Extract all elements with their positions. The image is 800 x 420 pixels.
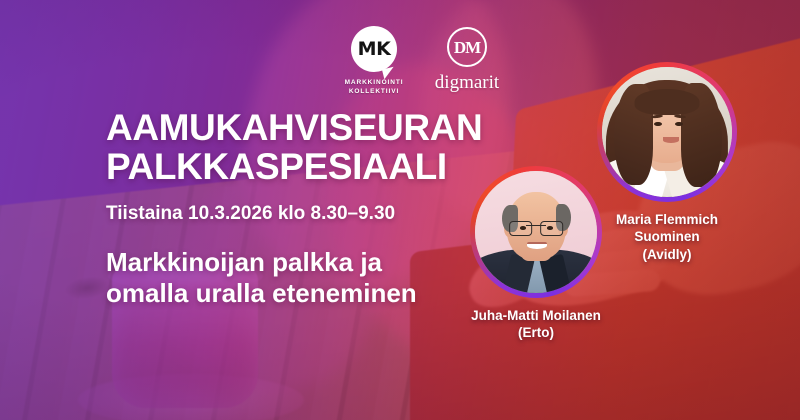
eye-right [547, 226, 553, 230]
eye-left [520, 226, 526, 230]
logo-row: MK MARKKINOINTI KOLLEKTIIVI DM digmarit [336, 26, 508, 104]
event-banner: MK MARKKINOINTI KOLLEKTIIVI DM digmarit … [0, 0, 800, 420]
portrait-maria [602, 67, 732, 197]
mk-monogram: MK [358, 40, 391, 59]
gradient-ring [470, 166, 602, 298]
digmarit-wordmark: digmarit [435, 73, 499, 92]
digmarit-logo: DM digmarit [426, 26, 508, 92]
fringe [635, 89, 700, 115]
mk-wordmark-line2: KOLLEKTIIVI [349, 88, 399, 95]
glasses-icon [509, 221, 563, 236]
eye-right [675, 122, 683, 126]
mouth [527, 242, 547, 249]
dm-monogram: DM [454, 39, 480, 56]
subtitle-line-1: Markkinoijan palkka ja [106, 247, 382, 277]
portrait-juha-matti [475, 171, 597, 293]
glasses-bridge [526, 225, 546, 227]
avatar [602, 67, 732, 197]
avatar [475, 171, 597, 293]
speaker-name-juha-matti: Juha-Matti Moilanen (Erto) [452, 307, 620, 342]
circle-icon: DM [447, 27, 487, 67]
mouth [663, 137, 679, 143]
mk-wordmark-line1: MARKKINOINTI [345, 79, 404, 86]
speech-bubble-icon: MK [351, 26, 397, 72]
juha-matti-name-line1: Juha-Matti Moilanen [452, 307, 620, 324]
markkinointikollektiivi-logo: MK MARKKINOINTI KOLLEKTIIVI [336, 26, 412, 97]
speaker-juha-matti: Juha-Matti Moilanen (Erto) [452, 166, 620, 342]
eye-left [654, 122, 662, 126]
title-line-1: AAMUKAHVISEURAN [106, 107, 482, 148]
mk-logo-wordmark: MARKKINOINTI KOLLEKTIIVI [345, 79, 404, 97]
juha-matti-organization: (Erto) [452, 324, 620, 341]
